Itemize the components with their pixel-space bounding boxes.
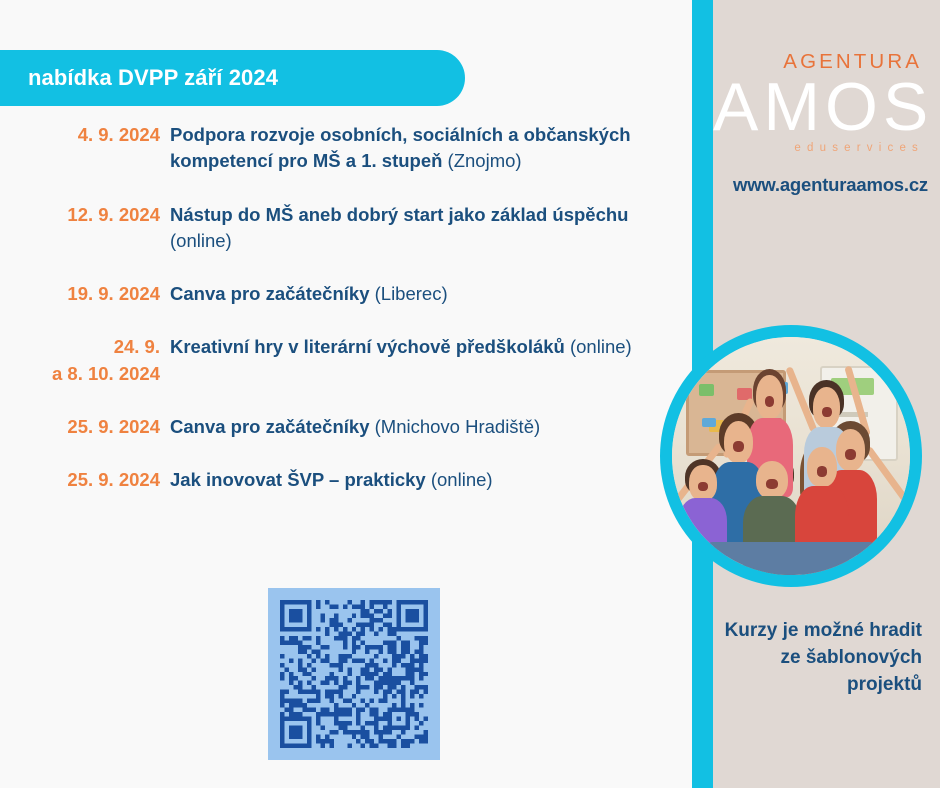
header-pill: nabídka DVPP září 2024 <box>0 50 465 106</box>
classroom-children-photo <box>672 337 910 575</box>
course-row: 24. 9. a 8. 10. 2024Kreativní hry v lite… <box>0 334 680 387</box>
course-row: 19. 9. 2024Canva pro začátečníky (Libere… <box>0 281 680 307</box>
course-date: 4. 9. 2024 <box>0 122 160 148</box>
course-row: 12. 9. 2024Nástup do MŠ aneb dobrý start… <box>0 202 680 255</box>
course-location: (online) <box>565 336 632 357</box>
brand-website-url[interactable]: www.agenturaamos.cz <box>713 174 940 196</box>
course-title-text: Canva pro začátečníky <box>170 283 369 304</box>
qr-code[interactable] <box>268 588 440 760</box>
page-title: nabídka DVPP září 2024 <box>28 65 278 91</box>
course-title-text: Canva pro začátečníky <box>170 416 369 437</box>
brand-logo: AGENTURA AMOS eduservices <box>713 52 940 155</box>
payment-note-line-1: Kurzy je možné hradit <box>713 618 922 645</box>
child-jeans <box>705 542 876 575</box>
course-title-text: Nástup do MŠ aneb dobrý start jako zákla… <box>170 204 628 225</box>
course-title: Nástup do MŠ aneb dobrý start jako zákla… <box>160 202 680 255</box>
course-location: (online) <box>426 469 493 490</box>
photo-circle-frame <box>660 325 922 587</box>
course-location: (online) <box>170 230 232 251</box>
course-title-text: Podpora rozvoje osobních, sociálních a o… <box>170 124 631 171</box>
course-title-text: Kreativní hry v literární výchově předšk… <box>170 336 565 357</box>
payment-note: Kurzy je možné hradit ze šablonových pro… <box>713 618 940 699</box>
brand-eduservices-text: eduservices <box>713 143 924 155</box>
course-title: Jak inovovat ŠVP – prakticky (online) <box>160 467 680 493</box>
course-date: 24. 9. a 8. 10. 2024 <box>0 334 160 387</box>
course-location: (Znojmo) <box>442 150 521 171</box>
course-date: 19. 9. 2024 <box>0 281 160 307</box>
course-title: Canva pro začátečníky (Liberec) <box>160 281 680 307</box>
course-list: 4. 9. 2024Podpora rozvoje osobních, soci… <box>0 122 680 520</box>
course-title: Podpora rozvoje osobních, sociálních a o… <box>160 122 680 175</box>
course-location: (Mnichovo Hradiště) <box>369 416 540 437</box>
course-row: 4. 9. 2024Podpora rozvoje osobních, soci… <box>0 122 680 175</box>
brand-amos-text: AMOS <box>713 75 926 140</box>
course-row: 25. 9. 2024Jak inovovat ŠVP – prakticky … <box>0 467 680 493</box>
payment-note-line-3: projektů <box>713 672 922 699</box>
course-title-text: Jak inovovat ŠVP – prakticky <box>170 469 426 490</box>
course-title: Kreativní hry v literární výchově předšk… <box>160 334 680 360</box>
course-date: 25. 9. 2024 <box>0 414 160 440</box>
course-date: 12. 9. 2024 <box>0 202 160 228</box>
payment-note-line-2: ze šablonových <box>713 645 922 672</box>
course-date: 25. 9. 2024 <box>0 467 160 493</box>
course-location: (Liberec) <box>369 283 447 304</box>
course-row: 25. 9. 2024Canva pro začátečníky (Mnicho… <box>0 414 680 440</box>
course-title: Canva pro začátečníky (Mnichovo Hradiště… <box>160 414 680 440</box>
poster-canvas: AGENTURA AMOS eduservices www.agenturaam… <box>0 0 940 788</box>
qr-code-image <box>280 600 428 748</box>
